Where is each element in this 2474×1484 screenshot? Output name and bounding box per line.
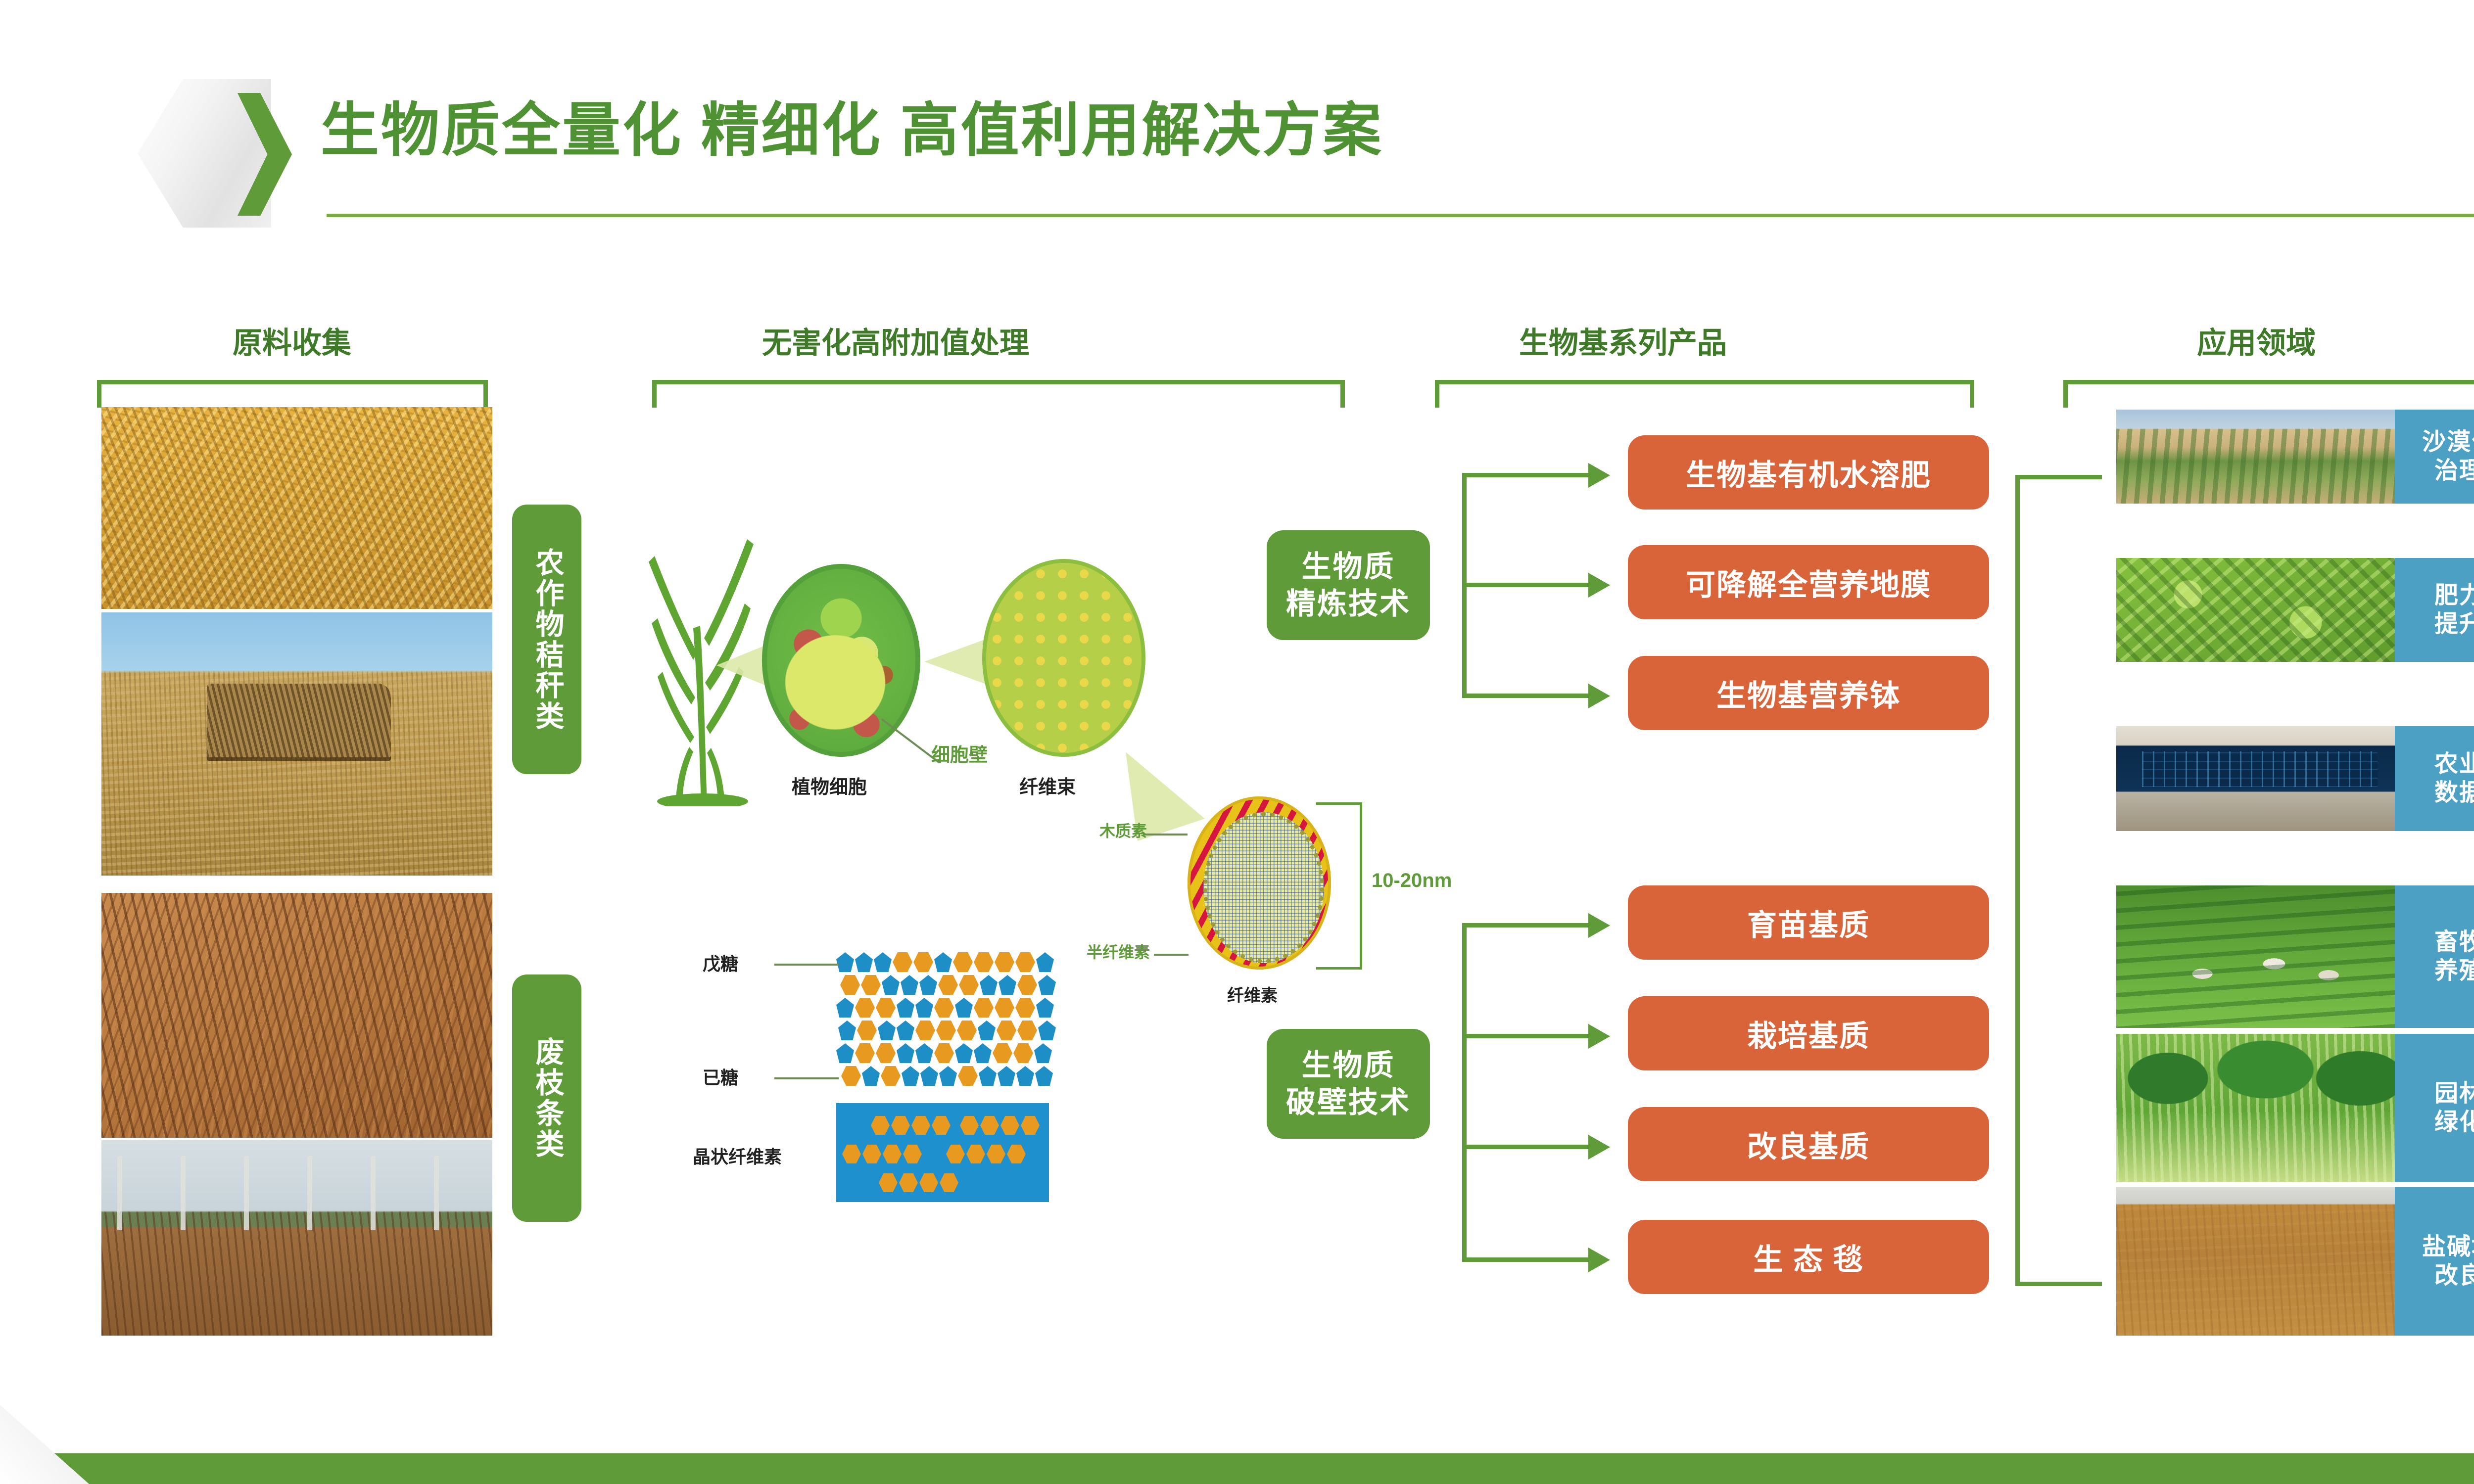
photo-park-landscape [2116,1034,2403,1182]
feedstock-label-waste-branches: 废枝条类 [512,974,581,1222]
photo-pruned-branches [101,893,492,1138]
dimension-line-vertical [1360,802,1362,970]
photo-desert-restoration [2116,410,2403,504]
product-box-nutrient-pot[interactable]: 生物基营养钵 [1628,656,1989,730]
magnify-cone-2-icon [924,638,989,685]
section-bracket-collection [97,380,488,408]
tech-box-refining[interactable]: 生物质 精炼技术 [1267,530,1430,640]
connector-wb-to-p4 [1462,1257,1591,1262]
application-tag-desertification-control[interactable]: 沙漠化 治理 [2395,410,2474,504]
section-heading-products: 生物基系列产品 [1425,319,1821,362]
app-label-line2: 提升 [2434,610,2474,639]
dimension-tick-top [1316,802,1362,805]
arrow-wb-to-p3 [1588,1135,1610,1159]
hemicellulose-leader-line [1154,954,1189,956]
connector-wb-to-p1 [1462,923,1591,927]
tech-refining-line1: 生物质 [1302,548,1395,585]
hexose-leader-line [774,1077,839,1079]
label-cellulose: 纤维素 [1227,982,1278,1006]
page-title: 生物质全量化 精细化 高值利用解决方案 [321,99,1383,163]
section-bracket-products [1435,380,1974,408]
label-plant-cell: 植物细胞 [792,772,867,799]
applications-group-bracket [2015,475,2102,1286]
product-box-cultivation-substrate[interactable]: 栽培基质 [1628,996,1989,1070]
arrow-wb-to-p1 [1588,913,1610,938]
connector-refining-to-p2 [1462,583,1591,587]
fiber-bundle-illustration [982,559,1145,757]
footer-bar [0,1453,2474,1484]
section-bracket-processing [652,380,1345,408]
app-label-line1: 农业 [2434,750,2474,779]
pentose-leader-line [774,964,839,966]
app-label-line1: 畜牧 [2434,928,2474,957]
label-dimension: 10-20nm [1372,870,1452,892]
crystalline-cellulose-illustration [836,1103,1049,1202]
app-label-line1: 园林 [2434,1079,2474,1108]
product-box-ecological-blanket[interactable]: 生 态 毯 [1628,1220,1989,1294]
app-label-line2: 改良 [2434,1261,2474,1290]
photo-saline-alkali-land [2116,1187,2403,1336]
connector-wallbreaking-spine [1462,925,1467,1261]
product-box-biodegradable-mulch-film[interactable]: 可降解全营养地膜 [1628,545,1989,619]
photo-cabbage-field [2116,558,2403,662]
cellulose-nanostructure-illustration [1188,796,1331,970]
label-crystalline-cellulose: 晶状纤维素 [693,1143,782,1168]
plant-cell-illustration [762,564,920,757]
app-label-line2: 养殖 [2434,957,2474,985]
section-heading-processing: 无害化高附加值处理 [717,319,1074,362]
app-label-line1: 沙漠化 [2422,428,2474,457]
section-heading-collection: 原料收集 [188,319,396,362]
application-tag-saline-land-improvement[interactable]: 盐碱地 改良 [2395,1187,2474,1336]
feedstock-label-crop-straw: 农作物秸秆类 [512,505,581,774]
arrow-refining-to-p3 [1588,684,1610,708]
tech-refining-line2: 精炼技术 [1286,585,1411,622]
app-label-line2: 数据 [2434,779,2474,807]
title-divider [327,214,2474,217]
product-box-improvement-substrate[interactable]: 改良基质 [1628,1107,1989,1181]
footer-corner-left-decoration [0,1405,89,1484]
connector-wb-to-p3 [1462,1145,1591,1149]
product-box-seedling-substrate[interactable]: 育苗基质 [1628,885,1989,960]
arrow-wb-to-p4 [1588,1248,1610,1272]
connector-wb-to-p2 [1462,1034,1591,1038]
arrow-refining-to-p2 [1588,573,1610,598]
label-cell-wall: 细胞壁 [931,740,988,767]
arrow-refining-to-p1 [1588,463,1610,488]
application-tag-fertility-improvement[interactable]: 肥力 提升 [2395,558,2474,662]
connector-refining-to-p1 [1462,473,1591,477]
infographic-canvas: 生物质全量化 精细化 高值利用解决方案 原料收集 无害化高附加值处理 生物基系列… [0,0,2474,1484]
sugar-chain-diagram [836,952,1111,1115]
label-hexose: 已糖 [703,1064,738,1089]
photo-vineyard-pruning [101,1140,492,1336]
connector-refining-to-p3 [1462,694,1591,698]
label-lignin: 木质素 [1099,819,1147,841]
app-label-line1: 盐碱地 [2422,1233,2474,1261]
photo-data-control-room [2116,726,2403,831]
app-label-line2: 绿化 [2434,1108,2474,1137]
application-tag-landscape-greening[interactable]: 园林 绿化 [2395,1034,2474,1182]
application-tag-agricultural-data[interactable]: 农业 数据 [2395,726,2474,831]
label-pentose: 戊糖 [703,950,738,975]
photo-corn-stalk-field [101,407,492,609]
tech-wallbreaking-line2: 破壁技术 [1286,1084,1411,1121]
product-box-water-soluble-fertilizer[interactable]: 生物基有机水溶肥 [1628,435,1989,510]
photo-straw-bale-field [101,612,492,876]
app-label-line1: 肥力 [2434,581,2474,610]
section-heading-applications: 应用领域 [2103,319,2410,362]
arrow-wb-to-p2 [1588,1024,1610,1049]
label-fiber-bundle: 纤维束 [1019,772,1076,799]
section-bracket-applications [2063,380,2474,408]
lignin-leader-line [1143,834,1188,835]
tech-wallbreaking-line1: 生物质 [1302,1047,1395,1084]
photo-sheep-pasture [2116,885,2403,1028]
app-label-line2: 治理 [2434,457,2474,485]
application-tag-livestock-breeding[interactable]: 畜牧 养殖 [2395,885,2474,1028]
tech-box-wall-breaking[interactable]: 生物质 破壁技术 [1267,1029,1430,1139]
dimension-tick-bottom [1316,967,1362,970]
